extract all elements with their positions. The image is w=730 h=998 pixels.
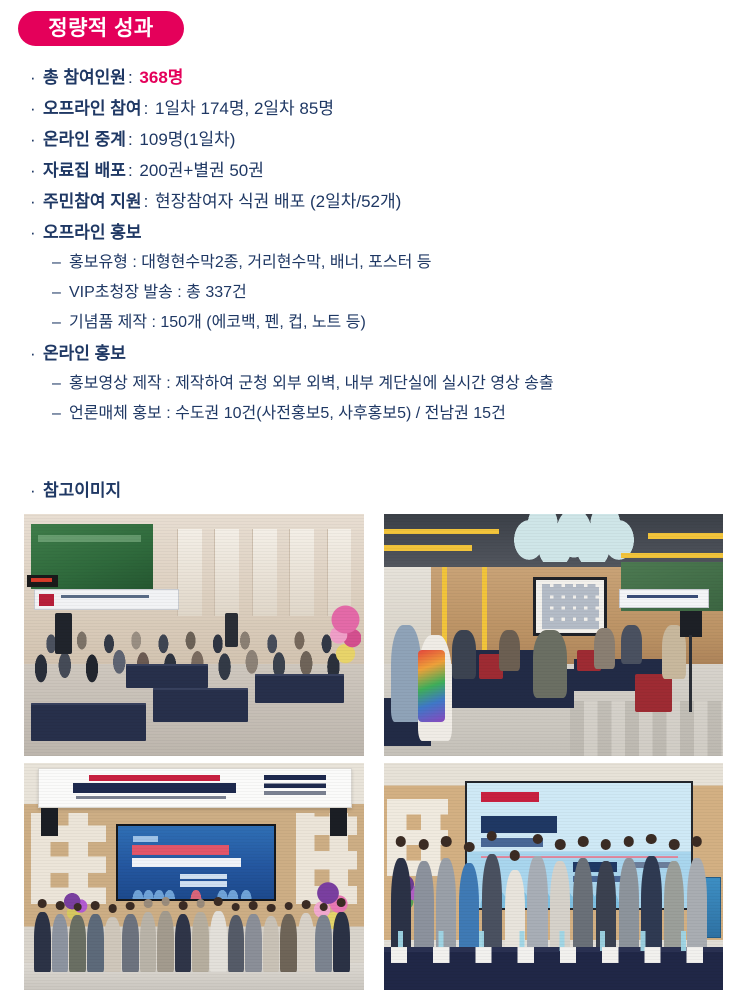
bullet-dot-icon: · (30, 217, 43, 248)
banner-title-block (73, 783, 236, 793)
conference-table (153, 688, 248, 722)
sub-list-item-text: 홍보유형 : 대형현수막2종, 거리현수막, 배너, 포스터 등 (69, 248, 431, 278)
participant (52, 914, 69, 972)
list-item-value: 200권+별권 50권 (139, 161, 263, 180)
list-item-separator: : (142, 192, 151, 211)
congratulatory-flower-stand (330, 604, 361, 667)
list-item-text: 주민참여 지원: 현장참여자 식권 배포 (2일차/52개) (43, 186, 401, 217)
list-item-label: 온라인 홍보 (43, 344, 126, 363)
list-item: · 주민참여 지원: 현장참여자 식권 배포 (2일차/52개) (0, 186, 730, 217)
stage-banner (619, 589, 709, 608)
results-list: · 총 참여인원: 368명 · 오프라인 참여: 1일차 174명, 2일차 … (0, 62, 730, 429)
participant-monk (140, 912, 157, 972)
attendee (499, 630, 519, 671)
attendee (391, 625, 422, 722)
dash-marker-icon: – (52, 369, 69, 399)
participant (298, 913, 315, 972)
list-item-label: 자료집 배포 (43, 161, 126, 180)
bullet-dot-icon: · (30, 124, 43, 155)
participant (315, 915, 332, 972)
list-item-text: 온라인 홍보 (43, 338, 126, 369)
participant (333, 912, 350, 972)
list-item-text: 자료집 배포: 200권+별권 50권 (43, 155, 264, 186)
led-presentation-screen (116, 824, 276, 901)
bullet-dot-icon: · (30, 478, 43, 504)
screen-logo-text (481, 792, 539, 802)
sub-list-item-text: VIP초청장 발송 : 총 337건 (69, 278, 247, 308)
attendee (621, 625, 641, 664)
banner-subtitle-block (89, 775, 220, 781)
dash-marker-icon: – (52, 308, 69, 338)
photo-group-banner (24, 763, 364, 990)
attendee (452, 630, 476, 678)
ceiling-accent-strip (648, 533, 723, 538)
page-title-badge: 정량적 성과 (18, 11, 184, 46)
list-item: · 자료집 배포: 200권+별권 50권 (0, 155, 730, 186)
conference-table (255, 674, 343, 703)
ceiling-accent-strip (384, 529, 499, 534)
bullet-dot-icon: · (30, 338, 43, 369)
screen-pagoda-illustration (130, 886, 261, 899)
participant (210, 911, 227, 972)
chair (635, 674, 672, 713)
wall-panel (177, 529, 202, 616)
screen-date-text (180, 874, 227, 879)
banner-caption-block (76, 796, 226, 799)
participant-monk (157, 911, 174, 972)
attendee (594, 628, 614, 669)
participant (228, 915, 245, 972)
wall-panel (252, 529, 277, 616)
wall-panel (289, 529, 314, 616)
list-item-value: 109명(1일차) (139, 130, 235, 149)
bullet-dot-icon: · (30, 155, 43, 186)
list-item: · 오프라인 참여: 1일차 174명, 2일차 85명 (0, 93, 730, 124)
list-item: · 온라인 홍보 (0, 338, 730, 369)
participant (122, 914, 139, 971)
list-item-label: 오프라인 참여 (43, 99, 142, 118)
ceiling-accent-strip (384, 545, 472, 550)
sub-list-item-text: 홍보영상 제작 : 제작하여 군청 외부 외벽, 내부 계단실에 실시간 영상 … (69, 369, 554, 399)
participant (280, 914, 297, 971)
list-item-label: 총 참여인원 (43, 68, 126, 87)
event-banner (38, 768, 353, 809)
name-cards (391, 947, 716, 963)
photo-wrapping-session (384, 763, 723, 990)
colorful-scarf (418, 650, 445, 723)
list-item-separator: : (126, 68, 135, 87)
wall-panel (214, 529, 239, 616)
photo-display-board (533, 577, 607, 636)
attendee (533, 630, 567, 698)
sub-list-item: – 언론매체 홍보 : 수도권 10건(사전홍보5, 사후홍보5) / 전남권 … (0, 399, 730, 429)
photo-audience-front (24, 514, 364, 756)
list-item-text: 온라인 중계: 109명(1일차) (43, 124, 235, 155)
sub-list-item-text: 기념품 제작 : 150개 (에코백, 펜, 컵, 노트 등) (69, 308, 366, 338)
sub-list-item: – 홍보영상 제작 : 제작하여 군청 외부 외벽, 내부 계단실에 실시간 영… (0, 369, 730, 399)
list-item: · 온라인 중계: 109명(1일차) (0, 124, 730, 155)
sub-list-item-text: 언론매체 홍보 : 수도권 10건(사전홍보5, 사후홍보5) / 전남권 15… (69, 399, 506, 429)
list-item-label: 오프라인 홍보 (43, 223, 142, 242)
sub-list-item: – VIP초청장 발송 : 총 337건 (0, 278, 730, 308)
participant (69, 915, 86, 972)
list-item: · 총 참여인원: 368명 (0, 62, 730, 93)
ceiling-accent-strip (621, 553, 723, 558)
dash-marker-icon: – (52, 248, 69, 278)
screen-title-text (132, 858, 241, 867)
group-photo-row (34, 899, 354, 972)
list-item-value: 현장참여자 식권 배포 (2일차/52개) (155, 192, 401, 211)
sub-list-item: – 기념품 제작 : 150개 (에코백, 펜, 컵, 노트 등) (0, 308, 730, 338)
photo-audience-side (384, 514, 723, 756)
list-item-separator: : (126, 161, 135, 180)
participant (34, 912, 51, 972)
list-item-label: 온라인 중계 (43, 130, 126, 149)
list-item: · 오프라인 홍보 (0, 217, 730, 248)
sub-list-item: – 홍보유형 : 대형현수막2종, 거리현수막, 배너, 포스터 등 (0, 248, 730, 278)
stage-banner (34, 589, 179, 610)
participant-monk (192, 912, 209, 972)
participant (263, 916, 280, 972)
list-item-value: 1일차 174명, 2일차 85명 (155, 99, 334, 118)
page-title: 정량적 성과 (48, 18, 153, 39)
list-item-label: 주민참여 지원 (43, 192, 142, 211)
list-item-text: 오프라인 홍보 (43, 217, 142, 248)
speaker-box (41, 808, 58, 835)
bullet-dot-icon: · (30, 62, 43, 93)
participant (245, 914, 262, 972)
bullet-dot-icon: · (30, 93, 43, 124)
camera-operator (225, 613, 239, 647)
bullet-dot-icon: · (30, 186, 43, 217)
video-camera-tripod (672, 611, 709, 713)
screen-subtitle-text (132, 845, 229, 854)
participant (175, 914, 192, 972)
list-item-separator: : (126, 130, 135, 149)
banner-date-venue-block (264, 775, 327, 794)
conference-table (126, 664, 208, 688)
dash-marker-icon: – (52, 399, 69, 429)
reference-images-heading: · 참고이미지 (30, 478, 121, 504)
participant (87, 914, 104, 972)
dash-marker-icon: – (52, 278, 69, 308)
speaker-box (330, 808, 347, 835)
list-item-separator: : (142, 99, 151, 118)
led-sign (27, 575, 58, 587)
conference-table (31, 703, 147, 742)
list-item-value: 368명 (139, 68, 183, 87)
list-item-text: 오프라인 참여: 1일차 174명, 2일차 85명 (43, 93, 334, 124)
list-item-text: 총 참여인원: 368명 (43, 62, 183, 93)
participant (104, 917, 121, 972)
reference-images-label: 참고이미지 (43, 478, 121, 504)
screen-year-text (133, 836, 158, 841)
camera-operator (55, 613, 72, 654)
